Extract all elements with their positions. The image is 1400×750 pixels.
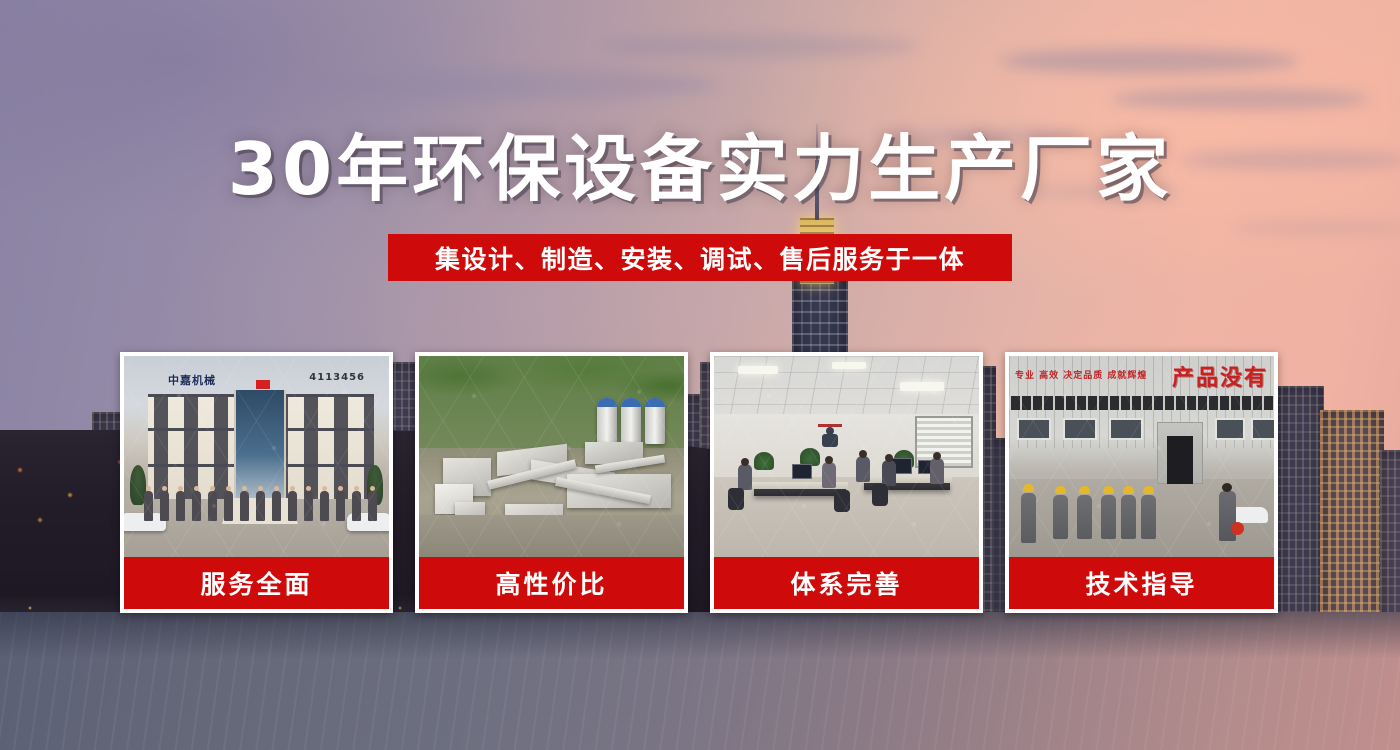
feature-card[interactable]: 中嘉机械 4113456 服务全面 bbox=[120, 352, 393, 613]
subtitle-bar: 集设计、制造、安装、调试、售后服务于一体 bbox=[388, 234, 1012, 281]
feature-card[interactable]: 产品没有 专业 高效 决定品质 成就辉煌 bbox=[1005, 352, 1278, 613]
subtitle-text: 集设计、制造、安装、调试、售后服务于一体 bbox=[435, 240, 965, 276]
company-headquarters-photo: 中嘉机械 4113456 bbox=[124, 356, 389, 557]
feature-card-list: 中嘉机械 4113456 服务全面 bbox=[120, 352, 1278, 613]
card-caption: 体系完善 bbox=[714, 557, 979, 609]
aerial-production-plant-photo bbox=[419, 356, 684, 557]
wall-logo-icon bbox=[810, 424, 850, 454]
page-title: 30年环保设备实力生产厂家 bbox=[0, 133, 1400, 205]
card-caption: 技术指导 bbox=[1009, 557, 1274, 609]
cloud bbox=[1110, 88, 1370, 110]
cloud bbox=[300, 70, 720, 100]
card-caption: 服务全面 bbox=[124, 557, 389, 609]
card-caption: 高性价比 bbox=[419, 557, 684, 609]
factory-sign-small-text: 专业 高效 决定品质 成就辉煌 bbox=[1015, 370, 1147, 382]
factory-sign-large-text: 产品没有 bbox=[1172, 360, 1268, 392]
cloud bbox=[1230, 220, 1400, 236]
building-phone-text: 4113456 bbox=[309, 372, 365, 383]
feature-card[interactable]: 高性价比 bbox=[415, 352, 688, 613]
office-workspace-photo bbox=[714, 356, 979, 557]
cloud bbox=[1000, 48, 1300, 74]
building-sign-text: 中嘉机械 bbox=[168, 372, 216, 388]
promo-banner: 30年环保设备实力生产厂家 集设计、制造、安装、调试、售后服务于一体 中嘉机械 … bbox=[0, 0, 1400, 750]
cloud bbox=[600, 35, 920, 57]
technical-training-workers-photo: 产品没有 专业 高效 决定品质 成就辉煌 bbox=[1009, 356, 1274, 557]
feature-card[interactable]: 体系完善 bbox=[710, 352, 983, 613]
water-reflection bbox=[0, 612, 1400, 750]
